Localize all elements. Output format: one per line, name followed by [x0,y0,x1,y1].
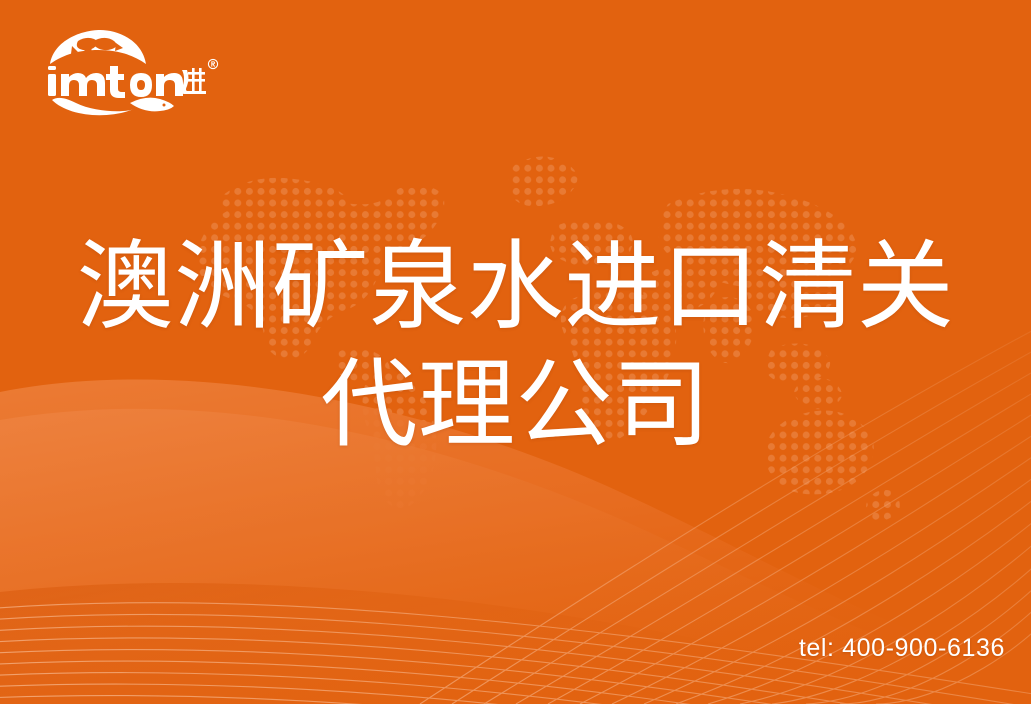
promo-banner: 进贸通 澳洲矿泉水进口清关 代理公司 tel: 400-900-6136 [0,0,1031,704]
headline-line-2: 代理公司 [0,346,1031,464]
imton-logo: 进贸通 [38,30,218,108]
logo-chinese-name [181,68,206,94]
page-title: 澳洲矿泉水进口清关 代理公司 [0,228,1031,465]
registered-mark-icon [208,59,217,68]
globe-arc-icon [50,30,146,64]
logo-wordmark [48,66,183,98]
headline-line-1: 澳洲矿泉水进口清关 [0,228,1031,346]
contact-phone: tel: 400-900-6136 [799,634,1005,663]
